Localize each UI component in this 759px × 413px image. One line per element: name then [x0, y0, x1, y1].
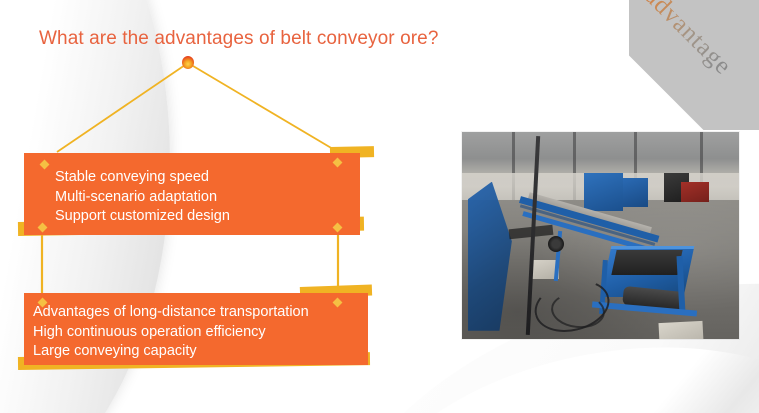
page-title: What are the advantages of belt conveyor… — [39, 28, 439, 50]
photo-background-machine — [584, 173, 623, 210]
photo-background-machine-red — [681, 182, 709, 203]
slide-canvas: advantage What are the advantages of bel… — [0, 0, 759, 413]
belt-conveyor-photo — [462, 132, 739, 339]
advantage-banner-1-text: Stable conveying speed Multi-scenario ad… — [55, 168, 230, 227]
banner-1-line-1: Stable conveying speed — [55, 168, 230, 188]
photo-conveyor-wheel — [548, 236, 564, 252]
corner-ribbon-label: advantage — [629, 0, 758, 102]
banner-1-line-2: Multi-scenario adaptation — [55, 188, 230, 208]
apex-node — [182, 56, 194, 69]
banner-1-line-3: Support customized design — [55, 207, 230, 227]
photo-conveyor-hopper-opening — [612, 250, 684, 275]
photo-scene — [462, 132, 739, 339]
banner-2-line-3: Large conveying capacity — [33, 342, 309, 362]
banner-2-line-2: High continuous operation efficiency — [33, 323, 309, 343]
corner-ribbon: advantage — [629, 0, 759, 130]
photo-crate — [658, 321, 703, 339]
photo-background-machine — [623, 178, 648, 207]
banner-2-line-1: Advantages of long-distance transportati… — [33, 303, 309, 323]
advantage-banner-2-text: Advantages of long-distance transportati… — [33, 303, 309, 362]
